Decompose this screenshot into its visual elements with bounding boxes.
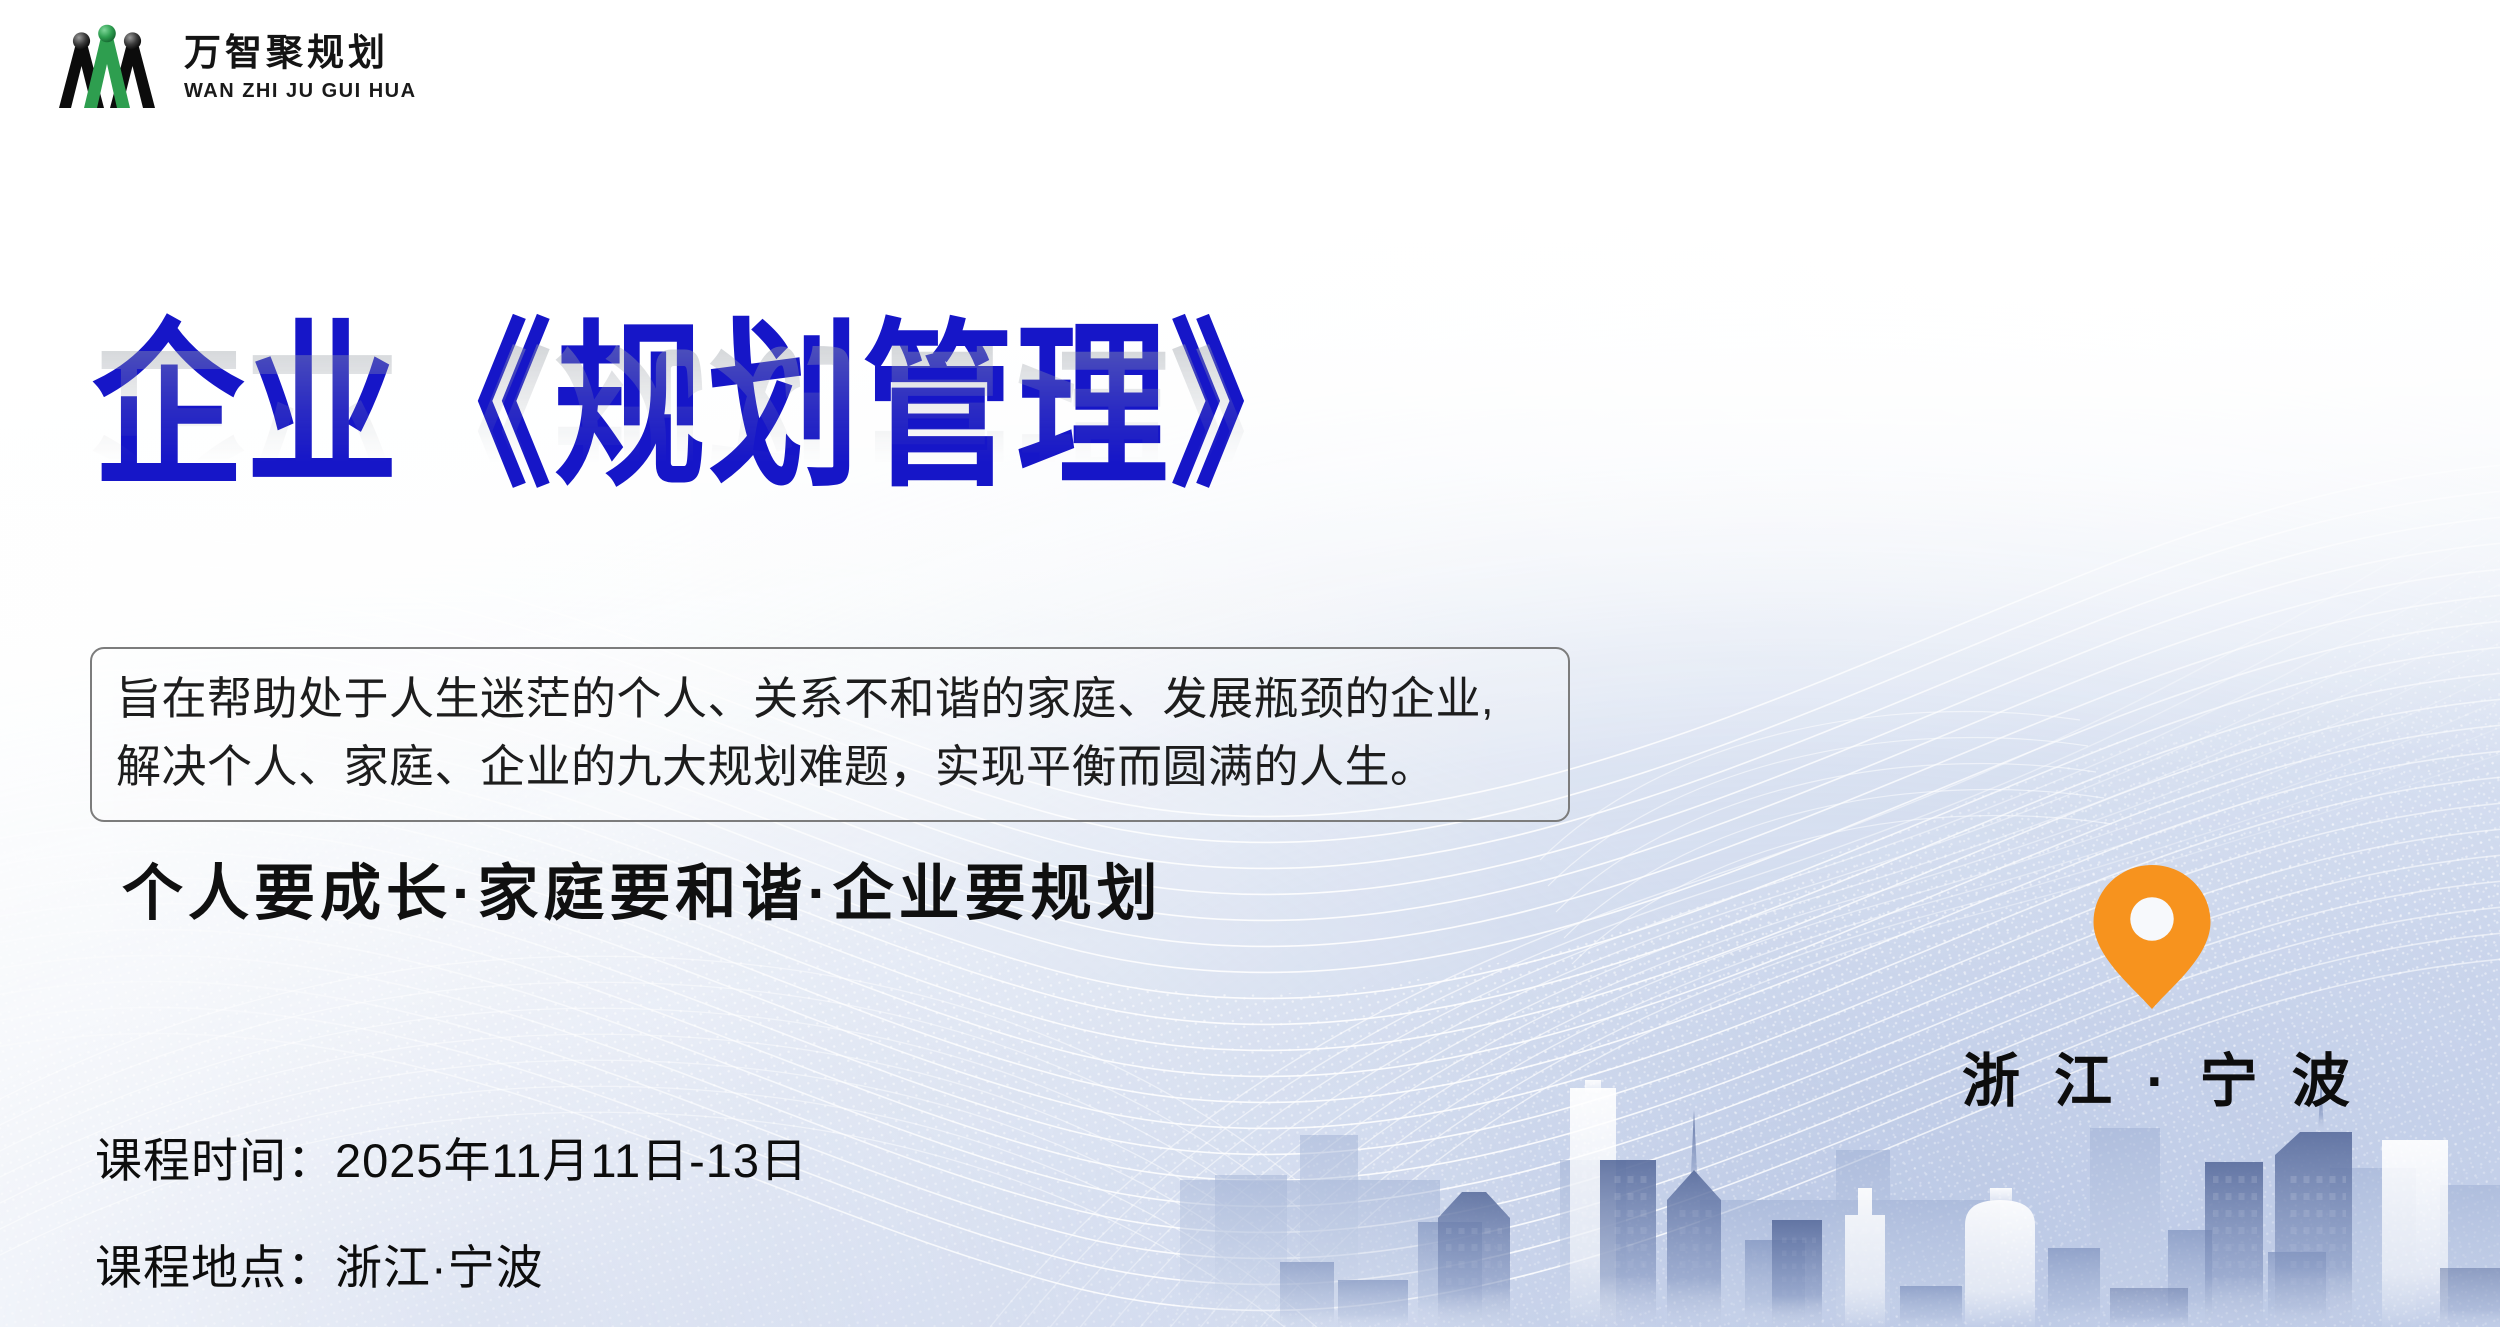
brand-name-cn: 万智聚规划 — [184, 35, 417, 72]
description-box: 旨在帮助处于人生迷茫的个人、关系不和谐的家庭、发展瓶颈的企业, 解决个人、家庭、… — [90, 647, 1570, 822]
course-place: 课程地点：浙江·宁波 — [95, 1229, 808, 1298]
three-people-m-logo-icon — [48, 22, 166, 114]
brand-text: 万智聚规划 WAN ZHI JU GUI HUA — [184, 35, 417, 101]
description-line-2: 解决个人、家庭、企业的九大规划难题，实现平衡而圆满的人生。 — [116, 733, 1544, 801]
brand-logo: 万智聚规划 WAN ZHI JU GUI HUA — [48, 22, 417, 114]
description-line-1: 旨在帮助处于人生迷茫的个人、关系不和谐的家庭、发展瓶颈的企业, — [116, 665, 1544, 733]
course-info: 课程时间：2025年11月11日-13日 课程地点：浙江·宁波 — [95, 1122, 808, 1298]
poster-canvas: 万智聚规划 WAN ZHI JU GUI HUA 企业《规划管理》 企业《规划管… — [0, 0, 2500, 1327]
headline-block: 企业《规划管理》 企业《规划管理》 — [92, 318, 1612, 470]
location-label: 浙 江 · 宁 波 — [1962, 1034, 2342, 1118]
location-badge: 浙 江 · 宁 波 — [1962, 862, 2342, 1118]
page-title-reflection: 企业《规划管理》 — [92, 335, 1324, 514]
map-pin-icon — [2089, 862, 2215, 1012]
course-time: 课程时间：2025年11月11日-13日 — [95, 1122, 808, 1191]
tagline: 个人要成长·家庭要和谐·企业要规划 — [122, 843, 1163, 932]
brand-name-en: WAN ZHI JU GUI HUA — [184, 81, 417, 101]
